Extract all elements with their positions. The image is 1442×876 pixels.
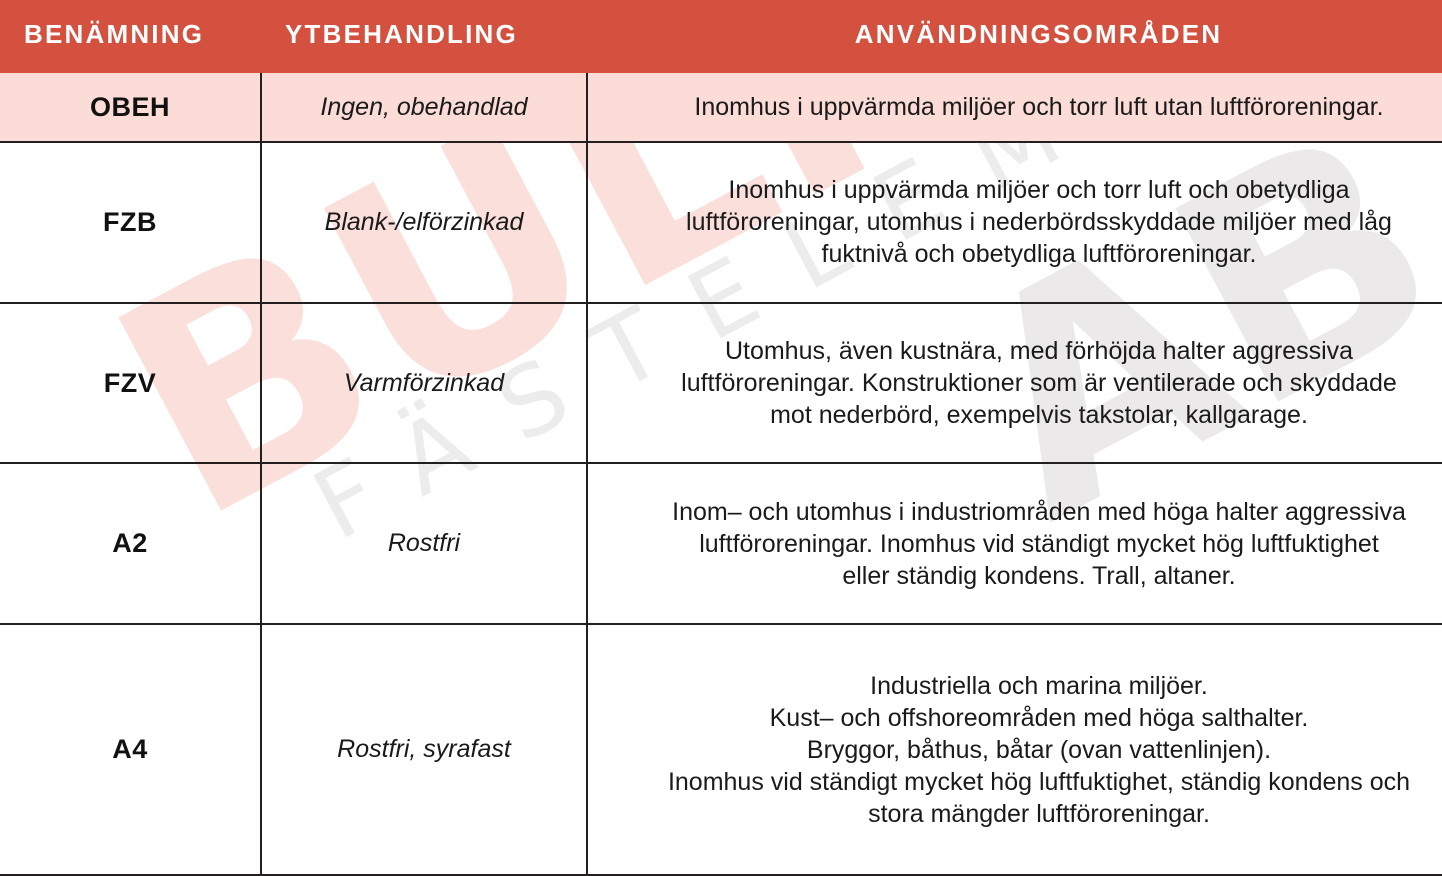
description-line: eller ständig kondens. Trall, altaner. (598, 560, 1442, 592)
description-line: stora mängder luftföroreningar. (598, 798, 1442, 830)
description-line: fuktnivå och obetydliga luftföroreningar… (598, 238, 1442, 270)
cell-benamning: FZV (0, 303, 261, 464)
cell-benamning: OBEH (0, 73, 261, 142)
cell-anvandningsomraden: Inom– och utomhus i industriområden med … (587, 463, 1442, 624)
description-line: Bryggor, båthus, båtar (ovan vattenlinje… (598, 734, 1442, 766)
description-line: Utomhus, även kustnära, med förhöjda hal… (598, 335, 1442, 367)
cell-ytbehandling: Rostfri, syrafast (261, 624, 587, 875)
table-row: OBEHIngen, obehandladInomhus i uppvärmda… (0, 73, 1442, 142)
description-line: Inomhus vid ständigt mycket hög luftfukt… (598, 766, 1442, 798)
cell-ytbehandling: Varmförzinkad (261, 303, 587, 464)
description-line: Inomhus i uppvärmda miljöer och torr luf… (598, 91, 1442, 123)
cell-anvandningsomraden: Industriella och marina miljöer.Kust– oc… (587, 624, 1442, 875)
cell-benamning: A4 (0, 624, 261, 875)
description-line: luftföroreningar. Inomhus vid ständigt m… (598, 528, 1442, 560)
description-line: Kust– och offshoreområden med höga salth… (598, 702, 1442, 734)
table-row: FZBBlank-/elförzinkadInomhus i uppvärmda… (0, 142, 1442, 303)
column-header-ytbehandling: YTBEHANDLING (261, 0, 587, 73)
cell-ytbehandling: Rostfri (261, 463, 587, 624)
description-line: Inomhus i uppvärmda miljöer och torr luf… (598, 174, 1442, 206)
description-line: Industriella och marina miljöer. (598, 670, 1442, 702)
column-header-benamning: BENÄMNING (0, 0, 261, 73)
table-row: FZVVarmförzinkadUtomhus, även kustnära, … (0, 303, 1442, 464)
table-row: A4Rostfri, syrafastIndustriella och mari… (0, 624, 1442, 875)
description-line: mot nederbörd, exempelvis takstolar, kal… (598, 399, 1442, 431)
surface-treatment-table: BENÄMNING YTBEHANDLING ANVÄNDNINGSOMRÅDE… (0, 0, 1442, 876)
cell-anvandningsomraden: Inomhus i uppvärmda miljöer och torr luf… (587, 142, 1442, 303)
cell-benamning: A2 (0, 463, 261, 624)
table-header-row: BENÄMNING YTBEHANDLING ANVÄNDNINGSOMRÅDE… (0, 0, 1442, 73)
cell-ytbehandling: Ingen, obehandlad (261, 73, 587, 142)
cell-anvandningsomraden: Utomhus, även kustnära, med förhöjda hal… (587, 303, 1442, 464)
description-line: luftföroreningar. Konstruktioner som är … (598, 367, 1442, 399)
table-header: BENÄMNING YTBEHANDLING ANVÄNDNINGSOMRÅDE… (0, 0, 1442, 73)
spec-table-container: BULTAB AB FÄSTELEMENT BENÄMNING YTBEHAND… (0, 0, 1442, 876)
description-line: Inom– och utomhus i industriområden med … (598, 496, 1442, 528)
column-header-anvandningsomraden: ANVÄNDNINGSOMRÅDEN (587, 0, 1442, 73)
description-line: luftföroreningar, utomhus i nederbördssk… (598, 206, 1442, 238)
table-row: A2RostfriInom– och utomhus i industriomr… (0, 463, 1442, 624)
table-body: OBEHIngen, obehandladInomhus i uppvärmda… (0, 73, 1442, 875)
cell-anvandningsomraden: Inomhus i uppvärmda miljöer och torr luf… (587, 73, 1442, 142)
cell-benamning: FZB (0, 142, 261, 303)
cell-ytbehandling: Blank-/elförzinkad (261, 142, 587, 303)
